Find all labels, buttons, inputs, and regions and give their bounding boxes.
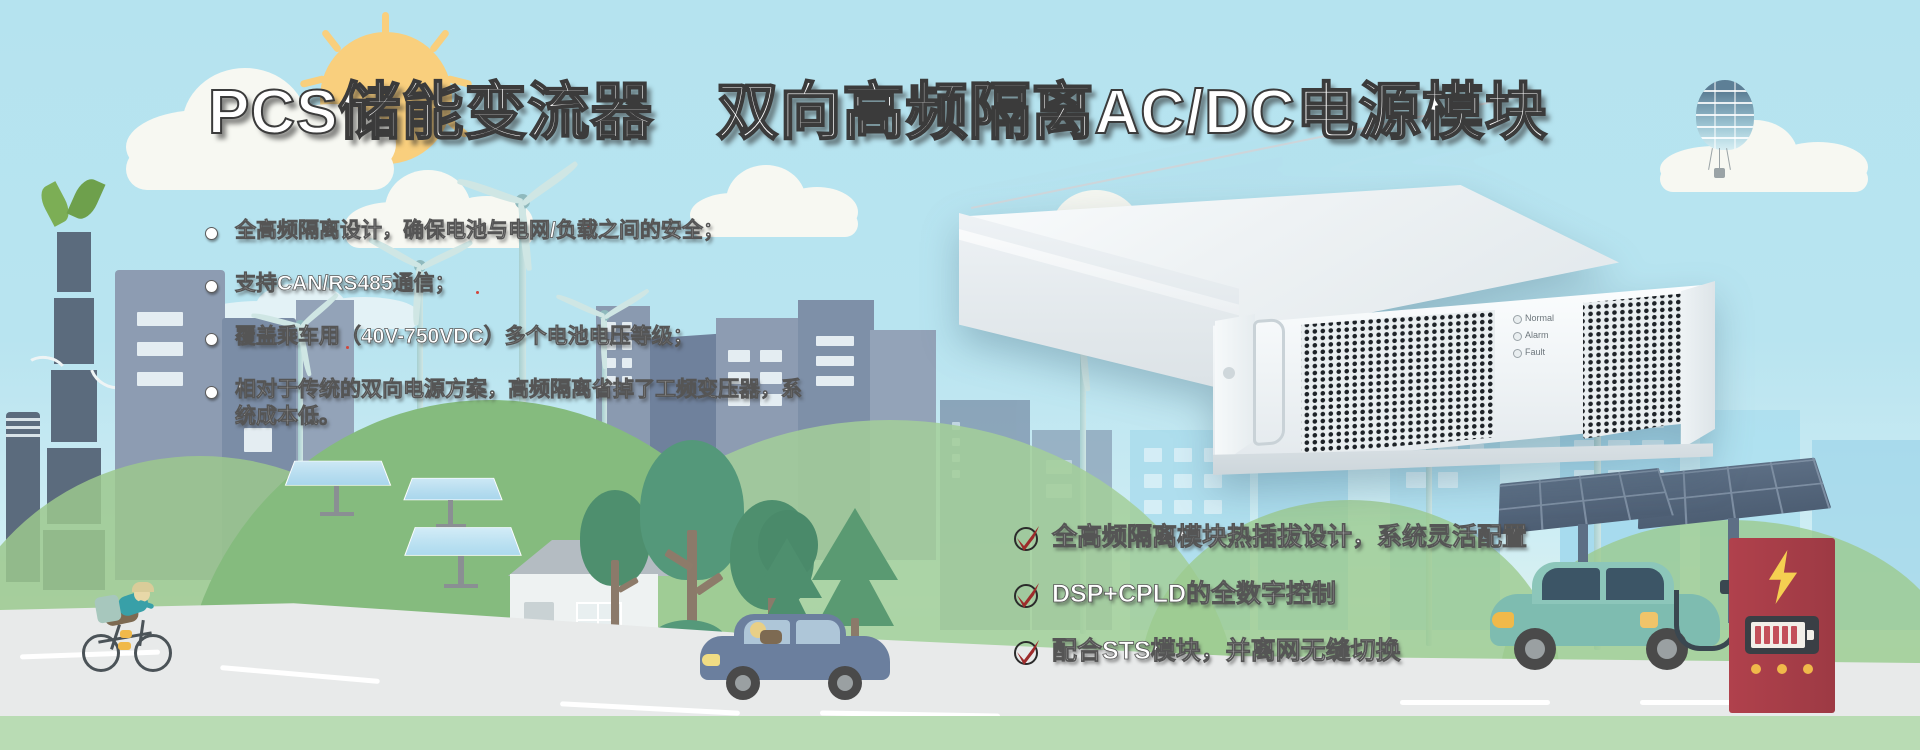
led-label-normal: Normal bbox=[1525, 313, 1554, 323]
red-check-circle-icon bbox=[1012, 524, 1039, 551]
green-leaf-icon bbox=[36, 181, 74, 227]
highlight-item: 全高频隔离模块热插拔设计，系统灵活配置 bbox=[1012, 522, 1527, 552]
highlight-label: DSP+CPLD的全数字控制 bbox=[1052, 579, 1336, 609]
bullet-dot-icon bbox=[205, 386, 218, 399]
highlight-item: 配合STS模块，并离网无缝切换 bbox=[1012, 636, 1527, 666]
feature-label: 覆盖乘车用（40V-750VDC）多个电池电压等级； bbox=[235, 324, 694, 351]
red-check-circle-icon bbox=[1012, 581, 1039, 608]
status-indicators: Normal Alarm Fault bbox=[1513, 313, 1587, 367]
led-label-fault: Fault bbox=[1525, 347, 1545, 357]
feature-list: 全高频隔离设计，确保电池与电网/负载之间的安全； 支持CAN/RS485通信； … bbox=[205, 218, 865, 456]
bullet-dot-icon bbox=[205, 227, 218, 240]
feature-item: 相对于传统的双向电源方案，高频隔离省掉了工频变压器，系统成本低。 bbox=[205, 377, 825, 431]
led-alarm bbox=[1513, 332, 1522, 341]
led-label-alarm: Alarm bbox=[1525, 330, 1549, 340]
hot-air-balloon-icon bbox=[1692, 80, 1764, 190]
led-normal bbox=[1513, 315, 1522, 324]
highlight-label: 全高频隔离模块热插拔设计，系统灵活配置 bbox=[1052, 522, 1527, 552]
led-fault bbox=[1513, 349, 1522, 358]
highlight-label: 配合STS模块，并离网无缝切换 bbox=[1052, 636, 1401, 666]
feature-label: 支持CAN/RS485通信； bbox=[235, 271, 456, 298]
page-title: PCS储能变流器 双向高频隔离AC/DC电源模块 bbox=[208, 82, 1548, 144]
feature-label: 全高频隔离设计，确保电池与电网/负载之间的安全； bbox=[235, 218, 724, 245]
green-leaf-icon bbox=[66, 175, 105, 223]
promo-banner: Normal Alarm Fault PCS储能变流器 双向高频隔离AC/DC电… bbox=[0, 0, 1920, 750]
ground-strip bbox=[0, 716, 1920, 750]
cyclist-icon bbox=[78, 580, 178, 670]
red-check-circle-icon bbox=[1012, 638, 1039, 665]
bullet-dot-icon bbox=[205, 280, 218, 293]
road-marking bbox=[1400, 700, 1550, 705]
solar-panel-icon bbox=[290, 452, 390, 524]
fan-grille bbox=[1301, 307, 1495, 455]
feature-item: 覆盖乘车用（40V-750VDC）多个电池电压等级； bbox=[205, 324, 865, 351]
highlight-item: DSP+CPLD的全数字控制 bbox=[1012, 579, 1527, 609]
feature-item: 全高频隔离设计，确保电池与电网/负载之间的安全； bbox=[205, 218, 865, 245]
feature-label: 相对于传统的双向电源方案，高频隔离省掉了工频变压器，系统成本低。 bbox=[235, 377, 815, 431]
battery-icon bbox=[1745, 616, 1819, 654]
feature-item: 支持CAN/RS485通信； bbox=[205, 271, 865, 298]
ev-charging-station-icon bbox=[1729, 538, 1835, 718]
bullet-dot-icon bbox=[205, 333, 218, 346]
device-handle bbox=[1253, 318, 1285, 446]
car-icon bbox=[700, 610, 890, 700]
highlight-list: 全高频隔离模块热插拔设计，系统灵活配置 DSP+CPLD的全数字控制 配合STS… bbox=[1012, 522, 1527, 693]
rackmount-pcs-module: Normal Alarm Fault bbox=[955, 185, 1715, 485]
